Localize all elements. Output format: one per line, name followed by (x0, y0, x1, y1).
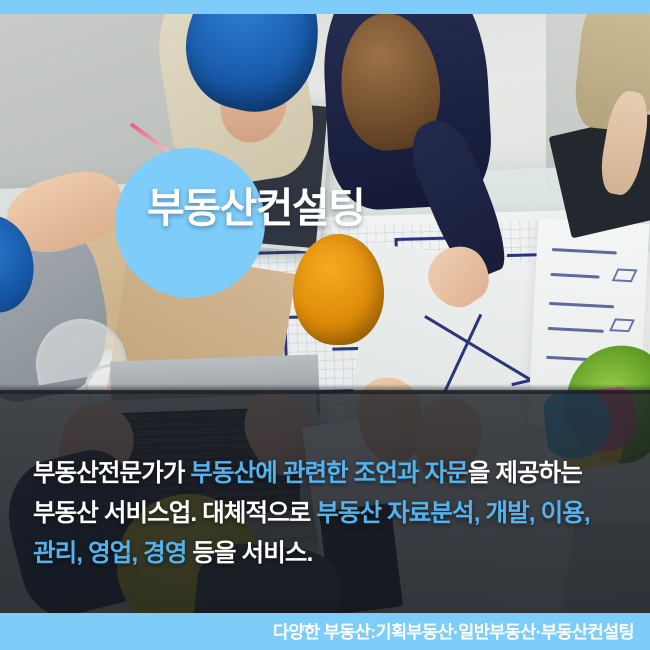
body-seg-1-3: 을 제공하는 (468, 460, 582, 487)
promo-card: 부동산컨설팅 부동산전문가가 부동산에 관련한 조언과 자문을 제공하는 부동산… (0, 0, 650, 650)
top-accent-bar (0, 0, 650, 14)
page-title: 부동산컨설팅 (147, 186, 567, 232)
body-seg-1-2: 부동산에 관련한 조언과 자문 (190, 460, 467, 487)
body-seg-1-1: 부동산전문가가 (33, 460, 190, 487)
photo-orange-hard-hat (293, 234, 384, 345)
footer-text: 다양한 부동산:기획부동산·일반부동산·부동산컨설팅 (273, 619, 650, 644)
body-seg-3-2: 등을 서비스. (186, 540, 312, 567)
body-line-1: 부동산전문가가 부동산에 관련한 조언과 자문을 제공하는 (33, 454, 628, 494)
body-copy: 부동산전문가가 부동산에 관련한 조언과 자문을 제공하는 부동산 서비스업. … (33, 454, 628, 574)
body-seg-3-1: 관리, 영업, 경영 (33, 540, 186, 567)
body-line-2: 부동산 서비스업. 대체적으로 부동산 자료분석, 개발, 이용, (33, 494, 628, 534)
body-seg-2-1: 부동산 서비스업. 대체적으로 (33, 500, 316, 527)
footer-bar: 다양한 부동산:기획부동산·일반부동산·부동산컨설팅 (0, 613, 650, 650)
body-line-3: 관리, 영업, 경영 등을 서비스. (33, 534, 628, 574)
body-seg-2-2: 부동산 자료분석, 개발, 이용, (316, 500, 589, 527)
